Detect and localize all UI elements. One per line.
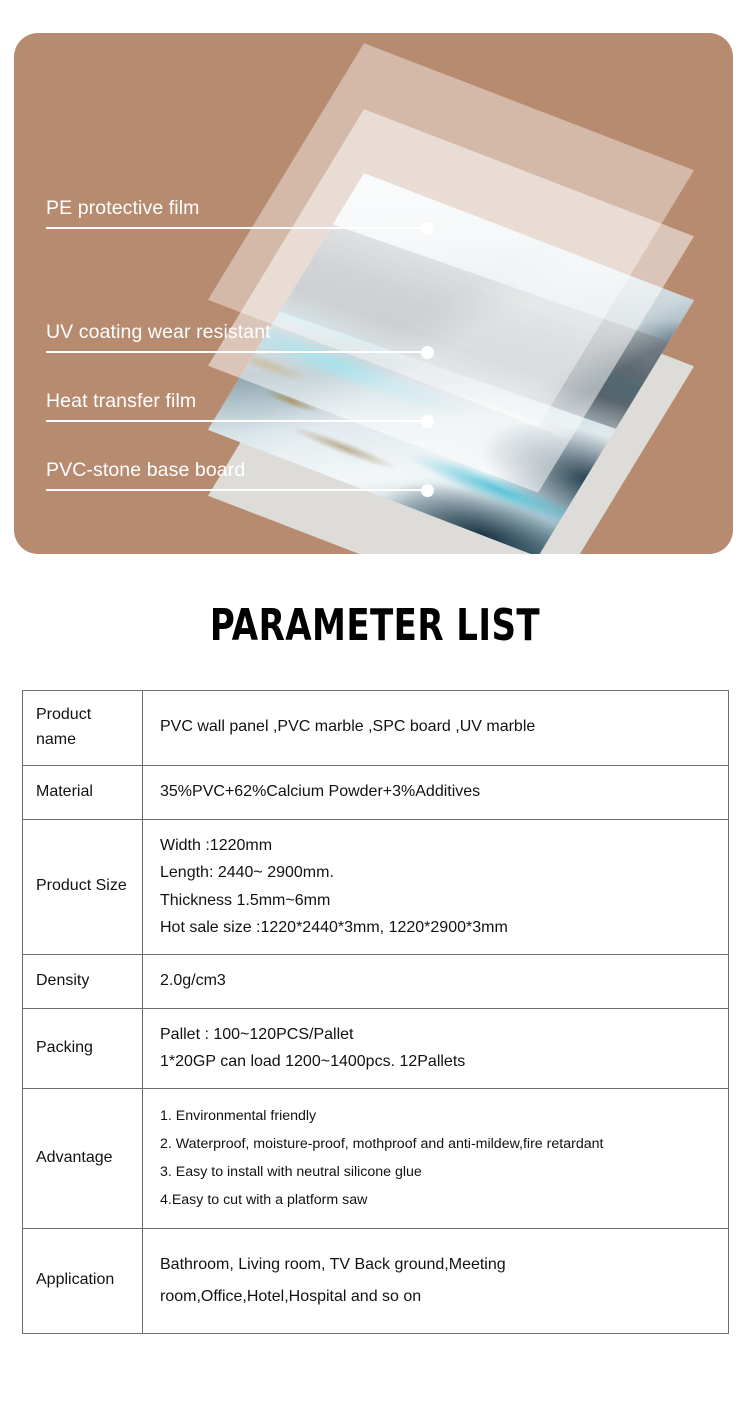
callout-dot-icon: [421, 346, 434, 359]
table-cell-key: Advantage: [23, 1088, 143, 1228]
callout-dot-icon: [421, 484, 434, 497]
table-cell-key: Material: [23, 765, 143, 819]
parameter-table: Product name PVC wall panel ,PVC marble …: [22, 690, 729, 1334]
callout-leader-line: [46, 420, 428, 422]
table-cell-value: 35%PVC+62%Calcium Powder+3%Additives: [143, 765, 729, 819]
table-cell-key: Density: [23, 954, 143, 1008]
callout-dot-icon: [421, 415, 434, 428]
table-row: Product Size Width :1220mm Length: 2440~…: [23, 819, 729, 954]
callout-label: Heat transfer film: [46, 390, 428, 413]
table-cell-value: 2.0g/cm3: [143, 954, 729, 1008]
callout-dot-icon: [421, 222, 434, 235]
callout-label: PVC-stone base board: [46, 459, 428, 482]
callout-uv-coating: UV coating wear resistant: [46, 321, 428, 353]
callout-heat-transfer-film: Heat transfer film: [46, 390, 428, 422]
table-row: Material 35%PVC+62%Calcium Powder+3%Addi…: [23, 765, 729, 819]
table-cell-value: PVC wall panel ,PVC marble ,SPC board ,U…: [143, 691, 729, 766]
callout-leader-line: [46, 351, 428, 353]
table-cell-value: Bathroom, Living room, TV Back ground,Me…: [143, 1228, 729, 1333]
page-title: PARAMETER LIST: [53, 600, 698, 651]
table-cell-key: Product name: [23, 691, 143, 766]
callout-label: PE protective film: [46, 197, 428, 220]
table-cell-value: 1. Environmental friendly 2. Waterproof,…: [143, 1088, 729, 1228]
table-row: Packing Pallet : 100~120PCS/Pallet 1*20G…: [23, 1008, 729, 1088]
callout-leader-line: [46, 489, 428, 491]
table-row: Advantage 1. Environmental friendly 2. W…: [23, 1088, 729, 1228]
product-structure-diagram: PE protective film UV coating wear resis…: [14, 33, 733, 554]
table-row: Product name PVC wall panel ,PVC marble …: [23, 691, 729, 766]
table-row: Application Bathroom, Living room, TV Ba…: [23, 1228, 729, 1333]
callout-label: UV coating wear resistant: [46, 321, 428, 344]
table-cell-key: Packing: [23, 1008, 143, 1088]
callout-pvc-stone-base-board: PVC-stone base board: [46, 459, 428, 491]
table-cell-key: Product Size: [23, 819, 143, 954]
table-cell-key: Application: [23, 1228, 143, 1333]
table-row: Density 2.0g/cm3: [23, 954, 729, 1008]
callout-leader-line: [46, 227, 428, 229]
table-cell-value: Width :1220mm Length: 2440~ 2900mm. Thic…: [143, 819, 729, 954]
table-cell-value: Pallet : 100~120PCS/Pallet 1*20GP can lo…: [143, 1008, 729, 1088]
callout-pe-protective-film: PE protective film: [46, 197, 428, 229]
